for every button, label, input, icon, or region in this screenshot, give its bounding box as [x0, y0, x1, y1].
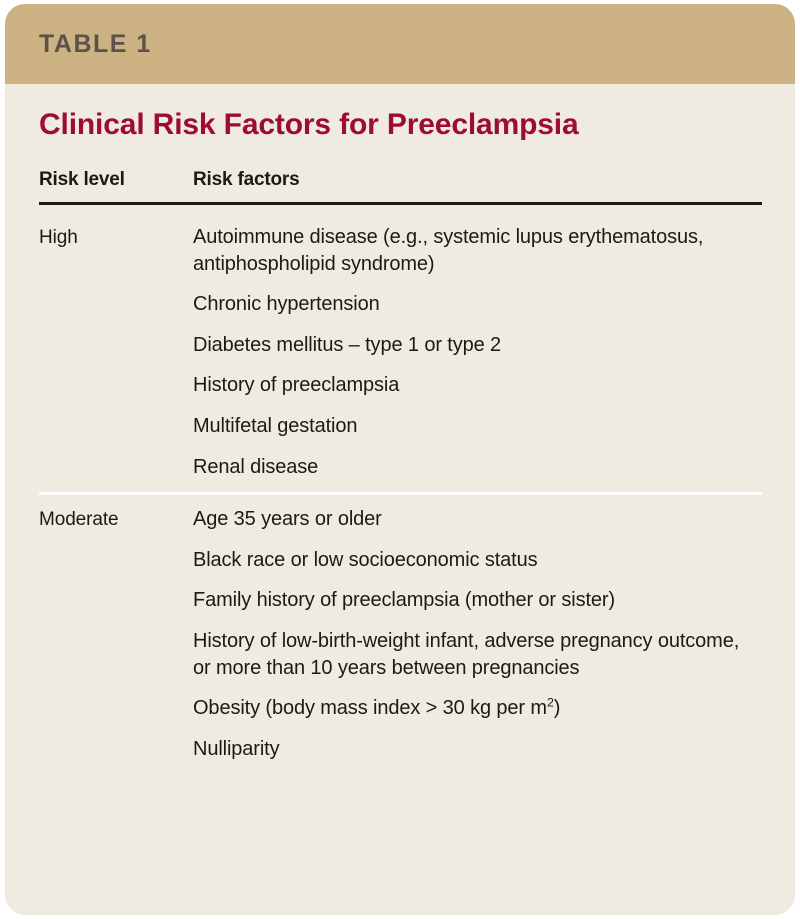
list-item: Diabetes mellitus – type 1 or type 2 [193, 332, 744, 359]
table-card: TABLE 1 Clinical Risk Factors for Preecl… [5, 4, 795, 915]
table-number-label: TABLE 1 [39, 30, 152, 59]
list-item: Black race or low socioeconomic status [193, 547, 744, 574]
table-header-band: TABLE 1 [5, 4, 795, 84]
list-item: Obesity (body mass index > 30 kg per m2) [193, 695, 744, 722]
risk-factors-list-moderate: Age 35 years or older Black race or low … [193, 506, 744, 762]
table-row: Moderate Age 35 years or older Black rac… [39, 506, 761, 762]
column-header-risk-factors: Risk factors [193, 169, 761, 191]
list-item: History of low-birth-weight infant, adve… [193, 628, 744, 681]
list-item: Renal disease [193, 454, 744, 481]
risk-factors-list-high: Autoimmune disease (e.g., systemic lupus… [193, 224, 744, 480]
list-item: Age 35 years or older [193, 506, 744, 533]
list-item: Autoimmune disease (e.g., systemic lupus… [193, 224, 744, 277]
risk-level-value-moderate: Moderate [39, 506, 193, 534]
column-header-row: Risk level Risk factors [39, 169, 761, 191]
column-header-risk-level: Risk level [39, 169, 193, 191]
list-item: Chronic hypertension [193, 291, 744, 318]
list-item: Nulliparity [193, 736, 744, 763]
list-item: Family history of preeclampsia (mother o… [193, 587, 744, 614]
table-body: Clinical Risk Factors for Preeclampsia R… [5, 108, 795, 762]
list-item: History of preeclampsia [193, 372, 744, 399]
list-item: Multifetal gestation [193, 413, 744, 440]
table-row: High Autoimmune disease (e.g., systemic … [39, 224, 761, 480]
section-divider [39, 492, 762, 495]
table-title: Clinical Risk Factors for Preeclampsia [39, 108, 761, 141]
header-rule [39, 202, 762, 205]
risk-level-value-high: High [39, 224, 193, 252]
